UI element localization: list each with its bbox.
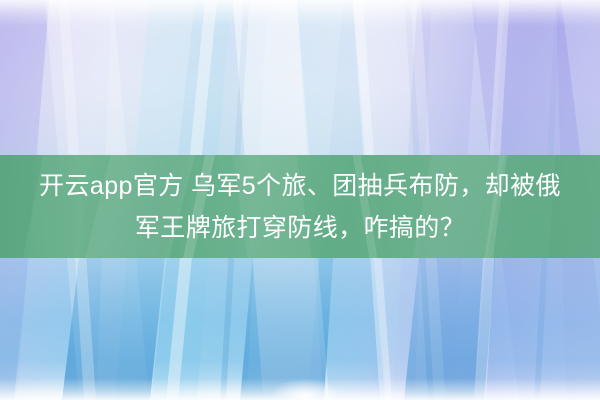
headline-band: 开云app官方 乌军5个旅、团抽兵布防，却被俄 军王牌旅打穿防线，咋搞的？ xyxy=(0,155,600,258)
headline-line-2: 军王牌旅打穿防线，咋搞的？ xyxy=(135,208,465,248)
headline-line-1: 开云app官方 乌军5个旅、团抽兵布防，却被俄 xyxy=(39,166,561,206)
promo-banner: 开云app官方 乌军5个旅、团抽兵布防，却被俄 军王牌旅打穿防线，咋搞的？ xyxy=(0,0,600,400)
headline-text: 开云app官方 乌军5个旅、团抽兵布防，却被俄 军王牌旅打穿防线，咋搞的？ xyxy=(0,155,600,258)
